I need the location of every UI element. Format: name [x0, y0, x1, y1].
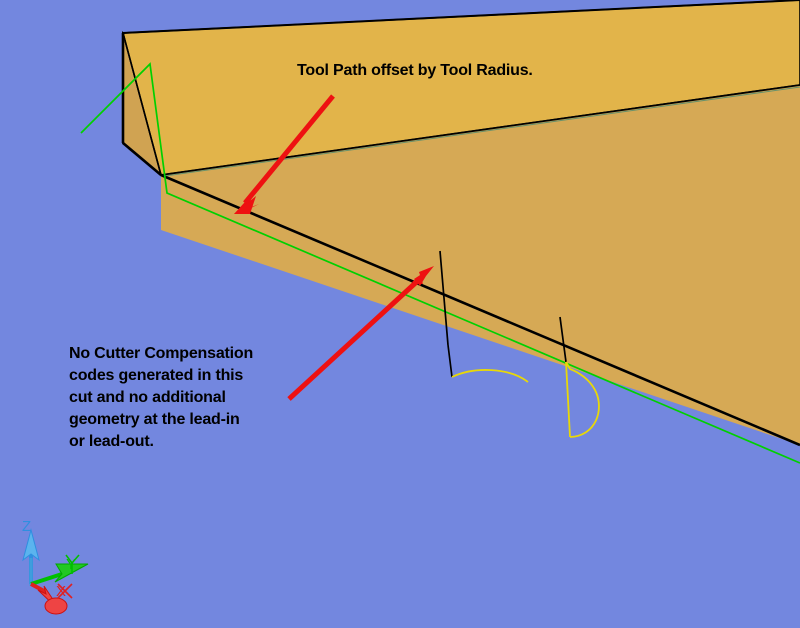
axis-label-y: Y [66, 556, 76, 573]
tool-lead-in-shank-lower [448, 345, 452, 377]
axis-label-x: X [56, 583, 66, 600]
axis-triad [23, 530, 88, 614]
tool-lead-out-shank-lower [566, 362, 570, 437]
axis-label-z: Z [22, 518, 31, 535]
axis-x-arrowhead-tip [45, 598, 67, 614]
callout-cutter-compensation-label: No Cutter Compensation codes generated i… [69, 343, 253, 453]
tool-lead-out-tip-arc [570, 369, 599, 437]
3d-scene [0, 0, 800, 628]
callout-toolpath-label: Tool Path offset by Tool Radius. [297, 60, 533, 82]
tool-lead-in-tip-arc [452, 370, 528, 382]
diagram-canvas: Tool Path offset by Tool Radius. No Cutt… [0, 0, 800, 628]
